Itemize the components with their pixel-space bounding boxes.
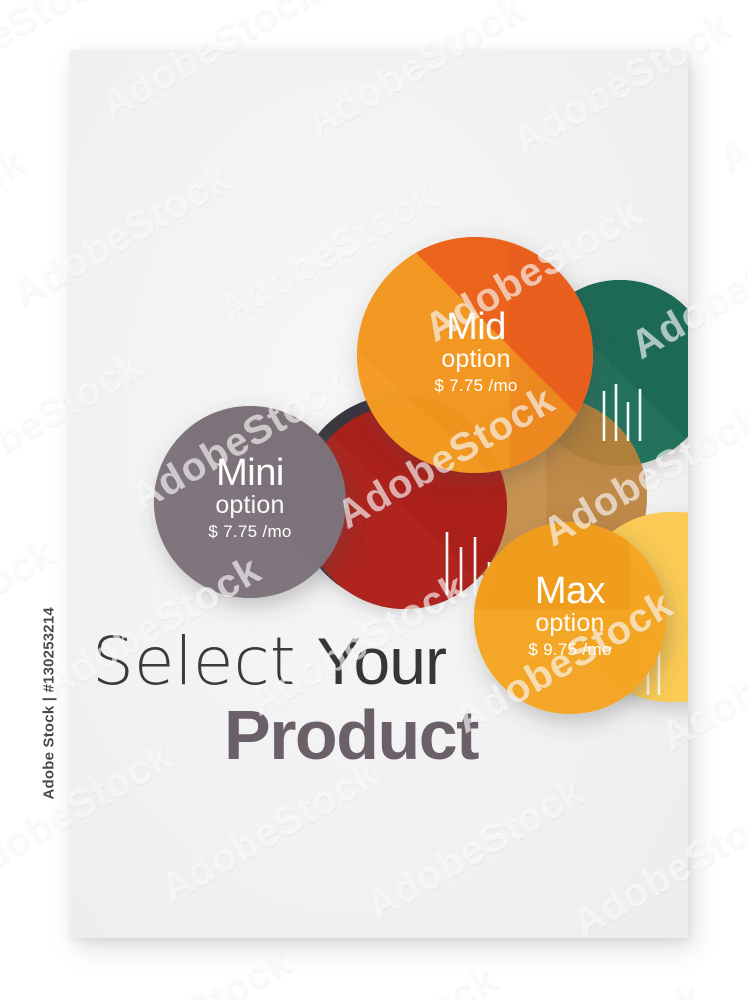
watermark-text: AdobeStock	[742, 412, 748, 572]
stock-credit-text: Adobe Stock | #130253214	[41, 570, 58, 800]
watermark-text: AdobeStock	[684, 991, 748, 1000]
watermark-text: AdobeStock	[272, 956, 505, 1000]
watermark-text: AdobeStock	[0, 530, 62, 690]
max-option-circle[interactable]	[474, 522, 666, 714]
poster-artwork	[70, 50, 688, 938]
mid-option-circle[interactable]	[357, 237, 593, 473]
watermark-text: AdobeStock	[711, 21, 748, 181]
watermark-text: AdobeStock	[0, 139, 33, 299]
stock-credit: Adobe Stock | #130253214	[10, 0, 50, 1000]
poster-stage: Mini option $ 7.75 /mo Mid option $ 7.75…	[0, 0, 748, 1000]
watermark-text: AdobeStock	[477, 974, 710, 1000]
mini-option-circle[interactable]	[154, 406, 346, 598]
poster-card: Mini option $ 7.75 /mo Mid option $ 7.75…	[70, 50, 688, 938]
watermark-text: AdobeStock	[66, 939, 299, 1000]
